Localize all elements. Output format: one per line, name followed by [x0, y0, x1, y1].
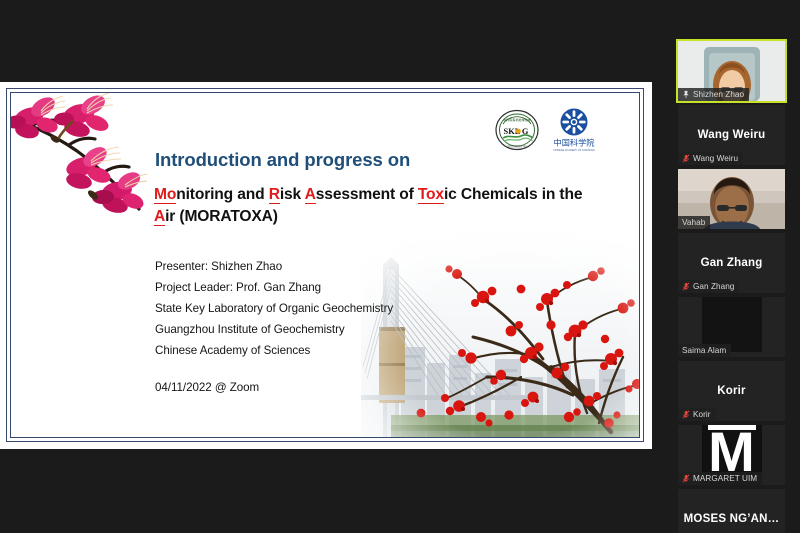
- svg-text:CHINESE ACADEMY OF SCIENCES: CHINESE ACADEMY OF SCIENCES: [553, 149, 595, 152]
- subtitle-text-4: ic Chemicals in the: [444, 186, 582, 203]
- participant-name: Gan Zhang: [693, 282, 734, 291]
- subtitle-text-1: nitoring and: [176, 186, 268, 203]
- shared-screen-stage: 中科院有机地球化学 SKL G GEOCHEMISTRY: [0, 0, 663, 533]
- presentation-slide: 中科院有机地球化学 SKL G GEOCHEMISTRY: [0, 82, 652, 449]
- svg-text:中科院有机地球化学: 中科院有机地球化学: [503, 117, 531, 122]
- detail-presenter: Presenter: Shizhen Zhao: [155, 256, 485, 277]
- subtitle-highlight-tox: Tox: [418, 186, 444, 204]
- participant-name: Korir: [693, 410, 711, 419]
- muted-mic-icon: [682, 410, 690, 419]
- bauhinia-flower-branch-icon: [11, 93, 147, 226]
- avatar-top-bar: [708, 425, 756, 430]
- subtitle-text-3: ssessment of: [316, 186, 418, 203]
- participant-tile-korir[interactable]: Korir Korir: [678, 361, 785, 421]
- subtitle-highlight-r: R: [269, 186, 280, 204]
- participant-name: Wang Weiru: [693, 154, 738, 163]
- participant-tile-shizhen-zhao[interactable]: Shizhen Zhao: [678, 41, 785, 101]
- participant-namebar: Korir: [678, 408, 716, 421]
- participant-name: Vahab: [682, 218, 705, 227]
- muted-mic-icon: [682, 154, 690, 163]
- pin-icon: [682, 90, 690, 99]
- detail-project-leader: Project Leader: Prof. Gan Zhang: [155, 277, 485, 298]
- participant-namebar: Gan Zhang: [678, 280, 739, 293]
- chinese-academy-of-sciences-logo: 中国科学院 CHINESE ACADEMY OF SCIENCES: [553, 107, 595, 153]
- subtitle-highlight-a1: A: [305, 186, 316, 204]
- slide-details: Presenter: Shizhen Zhao Project Leader: …: [155, 256, 485, 361]
- slide-datestamp: 04/11/2022 @ Zoom: [155, 381, 259, 394]
- subtitle-text-5: ir (MORATOXA): [165, 208, 278, 225]
- participant-tile-wang-weiru[interactable]: Wang Weiru Wang Weiru: [678, 105, 785, 165]
- detail-institute: Guangzhou Institute of Geochemistry: [155, 319, 485, 340]
- svg-text:中国科学院: 中国科学院: [554, 138, 595, 148]
- participant-name: Saima Alam: [682, 346, 726, 355]
- svg-text:GEOCHEMISTRY: GEOCHEMISTRY: [507, 145, 528, 149]
- participant-tile-margaret-uim[interactable]: M MARGARET UIM: [678, 425, 785, 485]
- participant-namebar: Vahab: [678, 216, 710, 229]
- muted-mic-icon: [682, 474, 690, 483]
- participant-avatar-name: MOSES NG’AN…: [678, 489, 785, 533]
- subtitle-highlight-mo: Mo: [154, 186, 176, 204]
- subtitle-highlight-a2: A: [154, 208, 165, 226]
- logo-group: 中科院有机地球化学 SKL G GEOCHEMISTRY: [495, 107, 595, 153]
- slide-border-inner: 中科院有机地球化学 SKL G GEOCHEMISTRY: [10, 92, 640, 438]
- participant-namebar: Wang Weiru: [678, 152, 743, 165]
- slide-canvas: 中科院有机地球化学 SKL G GEOCHEMISTRY: [11, 93, 639, 437]
- detail-academy: Chinese Academy of Sciences: [155, 340, 485, 361]
- muted-mic-icon: [682, 282, 690, 291]
- participant-tile-vahab[interactable]: Vahab: [678, 169, 785, 229]
- slide-subtitle: Monitoring and Risk Assessment of Toxic …: [154, 184, 584, 227]
- participant-tile-gan-zhang[interactable]: Gan Zhang Gan Zhang: [678, 233, 785, 293]
- slide-title: Introduction and progress on: [155, 149, 410, 171]
- subtitle-text-2: isk: [280, 186, 305, 203]
- participant-tile-moses-nganga[interactable]: MOSES NG’AN… MOSES NG'ANG'A NJE…: [678, 489, 785, 533]
- participant-tile-saima-alam[interactable]: Saima Alam: [678, 297, 785, 357]
- detail-laboratory: State Key Laboratory of Organic Geochemi…: [155, 298, 485, 319]
- slide-border-outer: 中科院有机地球化学 SKL G GEOCHEMISTRY: [6, 88, 644, 442]
- participant-filmstrip[interactable]: Shizhen Zhao Wang Weiru Wang Weiru: [663, 0, 800, 533]
- participant-namebar: Shizhen Zhao: [678, 88, 749, 101]
- participant-name: Shizhen Zhao: [693, 90, 744, 99]
- avatar-letter: M: [708, 425, 755, 478]
- sklog-logo: 中科院有机地球化学 SKL G GEOCHEMISTRY: [495, 108, 539, 152]
- participant-namebar: Saima Alam: [678, 344, 731, 357]
- participant-name: MARGARET UIM: [693, 474, 757, 483]
- participant-namebar: MARGARET UIM: [678, 472, 762, 485]
